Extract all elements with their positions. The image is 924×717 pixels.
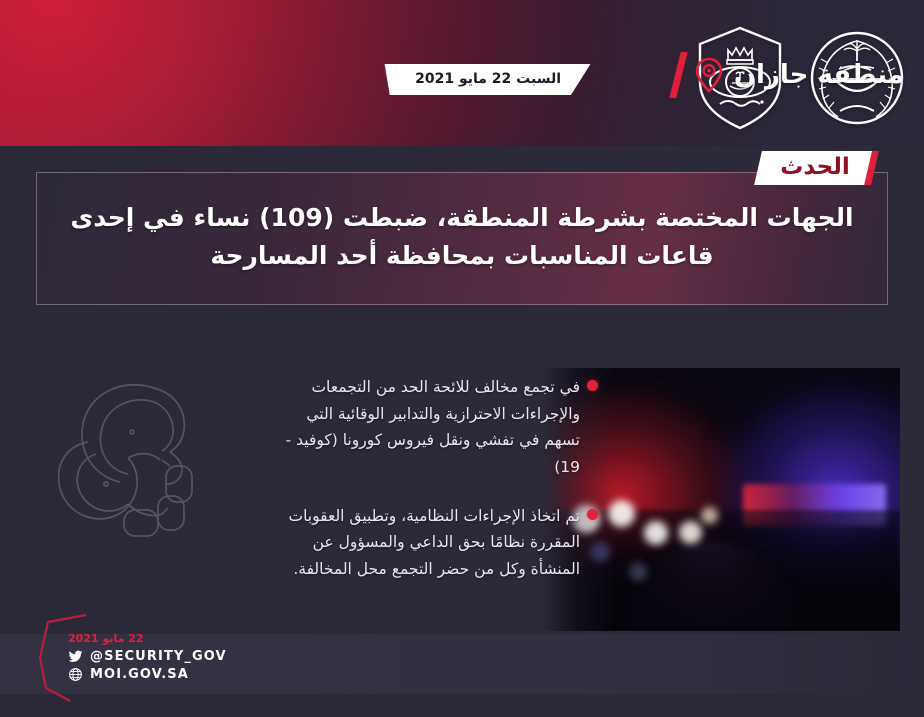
- footer-contact-info: 22 مايو 2021 @SECURITY_GOV MOI.GOV.SA: [68, 632, 227, 685]
- light-bokeh-blue: [590, 542, 610, 562]
- news-poster: السبت 22 مايو 2021 منطقة جازان الحدث الج…: [0, 0, 924, 717]
- website-url: MOI.GOV.SA: [90, 667, 189, 682]
- light-bokeh-blue: [629, 563, 647, 581]
- police-car-emergency-lights-photo: [544, 368, 900, 631]
- headlight-bokeh: [608, 500, 635, 527]
- region-title-group: منطقة جازان: [675, 52, 904, 98]
- footer-website-row[interactable]: MOI.GOV.SA: [68, 667, 227, 682]
- bullet-list: في تجمع مخالف للائحة الحد من التجمعات وا…: [280, 374, 580, 605]
- twitter-bird-icon: [68, 649, 83, 664]
- blue-light-glow: [708, 373, 900, 594]
- badge-chip: الحدث: [754, 151, 871, 185]
- headlight-bokeh: [679, 521, 702, 544]
- headline-text: الجهات المختصة بشرطة المنطقة، ضبطت (109)…: [67, 199, 857, 275]
- headlight-bokeh: [644, 521, 668, 545]
- region-label: منطقة جازان: [734, 60, 904, 90]
- location-pin-icon: [694, 56, 724, 94]
- bullet-dot-icon: [587, 509, 598, 520]
- date-chip: السبت 22 مايو 2021: [378, 64, 591, 95]
- handcuffs-line-art: [58, 368, 234, 540]
- bullet-text: في تجمع مخالف للائحة الحد من التجمعات وا…: [280, 374, 580, 481]
- footer-date: 22 مايو 2021: [68, 632, 227, 645]
- twitter-handle: @SECURITY_GOV: [90, 649, 227, 664]
- car-silhouette: [544, 510, 900, 631]
- car-hood: [629, 542, 793, 631]
- bullet-item: في تجمع مخالف للائحة الحد من التجمعات وا…: [280, 374, 580, 481]
- bullet-text: تم اتخاذ الإجراءات النظامية، وتطبيق العق…: [280, 503, 580, 583]
- bullet-dot-icon: [587, 380, 598, 391]
- emergency-lightbar: [743, 484, 885, 526]
- date-chip-label: السبت 22 مايو 2021: [415, 71, 561, 87]
- headlight-bokeh: [701, 507, 718, 524]
- badge-label: الحدث: [780, 154, 849, 180]
- event-badge: الحدث: [758, 151, 879, 185]
- bullet-item: تم اتخاذ الإجراءات النظامية، وتطبيق العق…: [280, 503, 580, 583]
- headline-box: الجهات المختصة بشرطة المنطقة، ضبطت (109)…: [36, 172, 888, 305]
- footer-twitter-row[interactable]: @SECURITY_GOV: [68, 649, 227, 664]
- globe-icon: [68, 667, 83, 682]
